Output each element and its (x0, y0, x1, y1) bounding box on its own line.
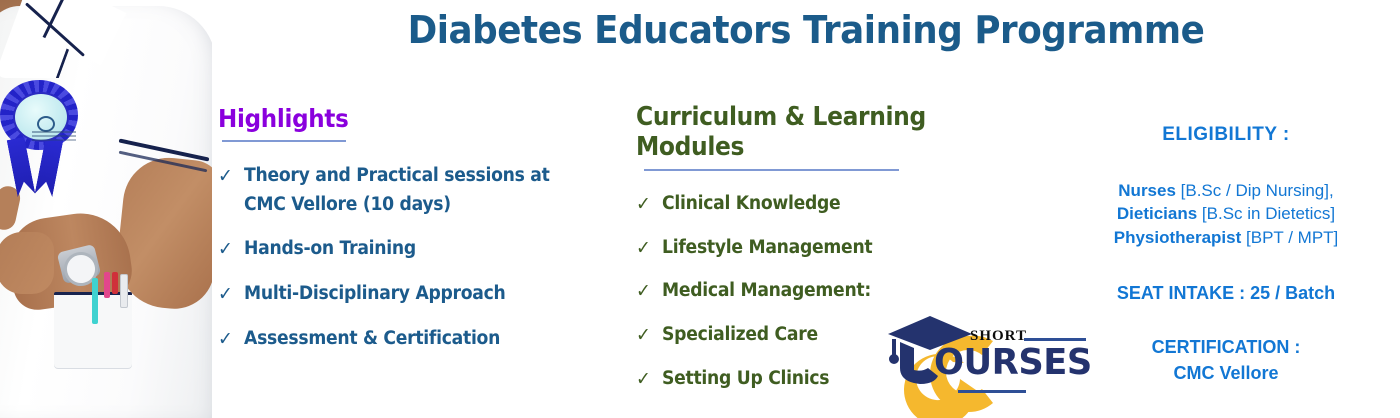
check-icon: ✓ (218, 239, 233, 260)
curriculum-heading-rule (644, 169, 899, 171)
list-item: ✓ Multi-Disciplinary Approach (218, 284, 590, 305)
list-item: ✓ Hands-on Training (218, 239, 590, 260)
check-icon: ✓ (636, 281, 651, 302)
blue-rosette-badge (0, 80, 78, 158)
eligibility-row: Dieticians [B.Sc in Dietetics] (1058, 202, 1394, 225)
rosette-center (13, 92, 69, 142)
short-courses-logo: SHORT OURSES (872, 306, 1087, 418)
list-item: ✓ Theory and Practical sessions at CMC V… (218, 166, 590, 215)
seat-intake-text: SEAT INTAKE : 25 / Batch (1058, 283, 1394, 304)
check-icon: ✓ (218, 329, 233, 350)
list-item-label: Specialized Care (662, 324, 818, 345)
eligibility-row: Nurses [B.Sc / Dip Nursing], (1058, 179, 1394, 202)
list-item-label: Multi-Disciplinary Approach (244, 283, 505, 304)
eligibility-heading: ELIGIBILITY : (1058, 124, 1394, 146)
list-item: ✓ Assessment & Certification (218, 329, 590, 350)
nurse-photo (0, 0, 212, 418)
list-item-label: Theory and Practical sessions at (244, 165, 550, 186)
eligibility-role: Dieticians (1117, 204, 1197, 223)
check-icon: ✓ (636, 369, 651, 390)
hand (0, 232, 54, 294)
graduation-cap-tassel-knob (889, 354, 899, 364)
eligibility-qualification: [BPT / MPT] (1241, 228, 1338, 247)
eligibility-list: Nurses [B.Sc / Dip Nursing], Dieticians … (1058, 179, 1394, 249)
list-item-label: Assessment & Certification (244, 328, 500, 349)
highlights-heading: Highlights (218, 104, 586, 133)
check-icon: ✓ (636, 325, 651, 346)
rosette-microtext (32, 131, 76, 133)
check-icon: ✓ (218, 166, 233, 187)
eligibility-role: Nurses (1118, 181, 1176, 200)
list-item-sublabel: CMC Vellore (10 days) (244, 195, 590, 216)
pen-red (112, 272, 118, 294)
certification-block: CERTIFICATION : CMC Vellore (1058, 334, 1394, 386)
list-item: ✓ Clinical Knowledge (636, 194, 1008, 215)
pen-white (120, 274, 128, 308)
check-icon: ✓ (636, 238, 651, 259)
eligibility-role: Physiotherapist (1114, 228, 1242, 247)
pen-teal (92, 278, 98, 324)
pen-pink (104, 272, 110, 298)
list-item: ✓ Medical Management: (636, 281, 1008, 302)
list-item-label: Lifestyle Management (662, 237, 872, 258)
certification-label: CERTIFICATION : (1058, 334, 1394, 360)
logo-bottom-rule (958, 390, 1026, 393)
page-title: Diabetes Educators Training Programme (248, 8, 1365, 52)
check-icon: ✓ (218, 284, 233, 305)
eligibility-row: Physiotherapist [BPT / MPT] (1058, 226, 1394, 249)
list-item-label: Clinical Knowledge (662, 193, 840, 214)
highlights-list: ✓ Theory and Practical sessions at CMC V… (218, 166, 618, 350)
certification-value: CMC Vellore (1058, 360, 1394, 386)
list-item-label: Medical Management: (662, 280, 871, 301)
list-item-label: Setting Up Clinics (662, 368, 829, 389)
eligibility-qualification: [B.Sc in Dietetics] (1197, 204, 1335, 223)
info-column: ELIGIBILITY : Nurses [B.Sc / Dip Nursing… (1058, 124, 1394, 387)
check-icon: ✓ (636, 194, 651, 215)
highlights-column: Highlights ✓ Theory and Practical sessio… (218, 104, 618, 350)
list-item-label: Hands-on Training (244, 238, 416, 259)
list-item: ✓ Lifestyle Management (636, 238, 1008, 259)
rosette-emblem-icon (37, 116, 55, 132)
curriculum-heading: Curriculum & Learning Modules (636, 102, 996, 162)
eligibility-qualification: [B.Sc / Dip Nursing], (1176, 181, 1334, 200)
highlights-heading-rule (222, 140, 346, 142)
banner-root: Diabetes Educators Training Programme Hi… (0, 0, 1400, 418)
